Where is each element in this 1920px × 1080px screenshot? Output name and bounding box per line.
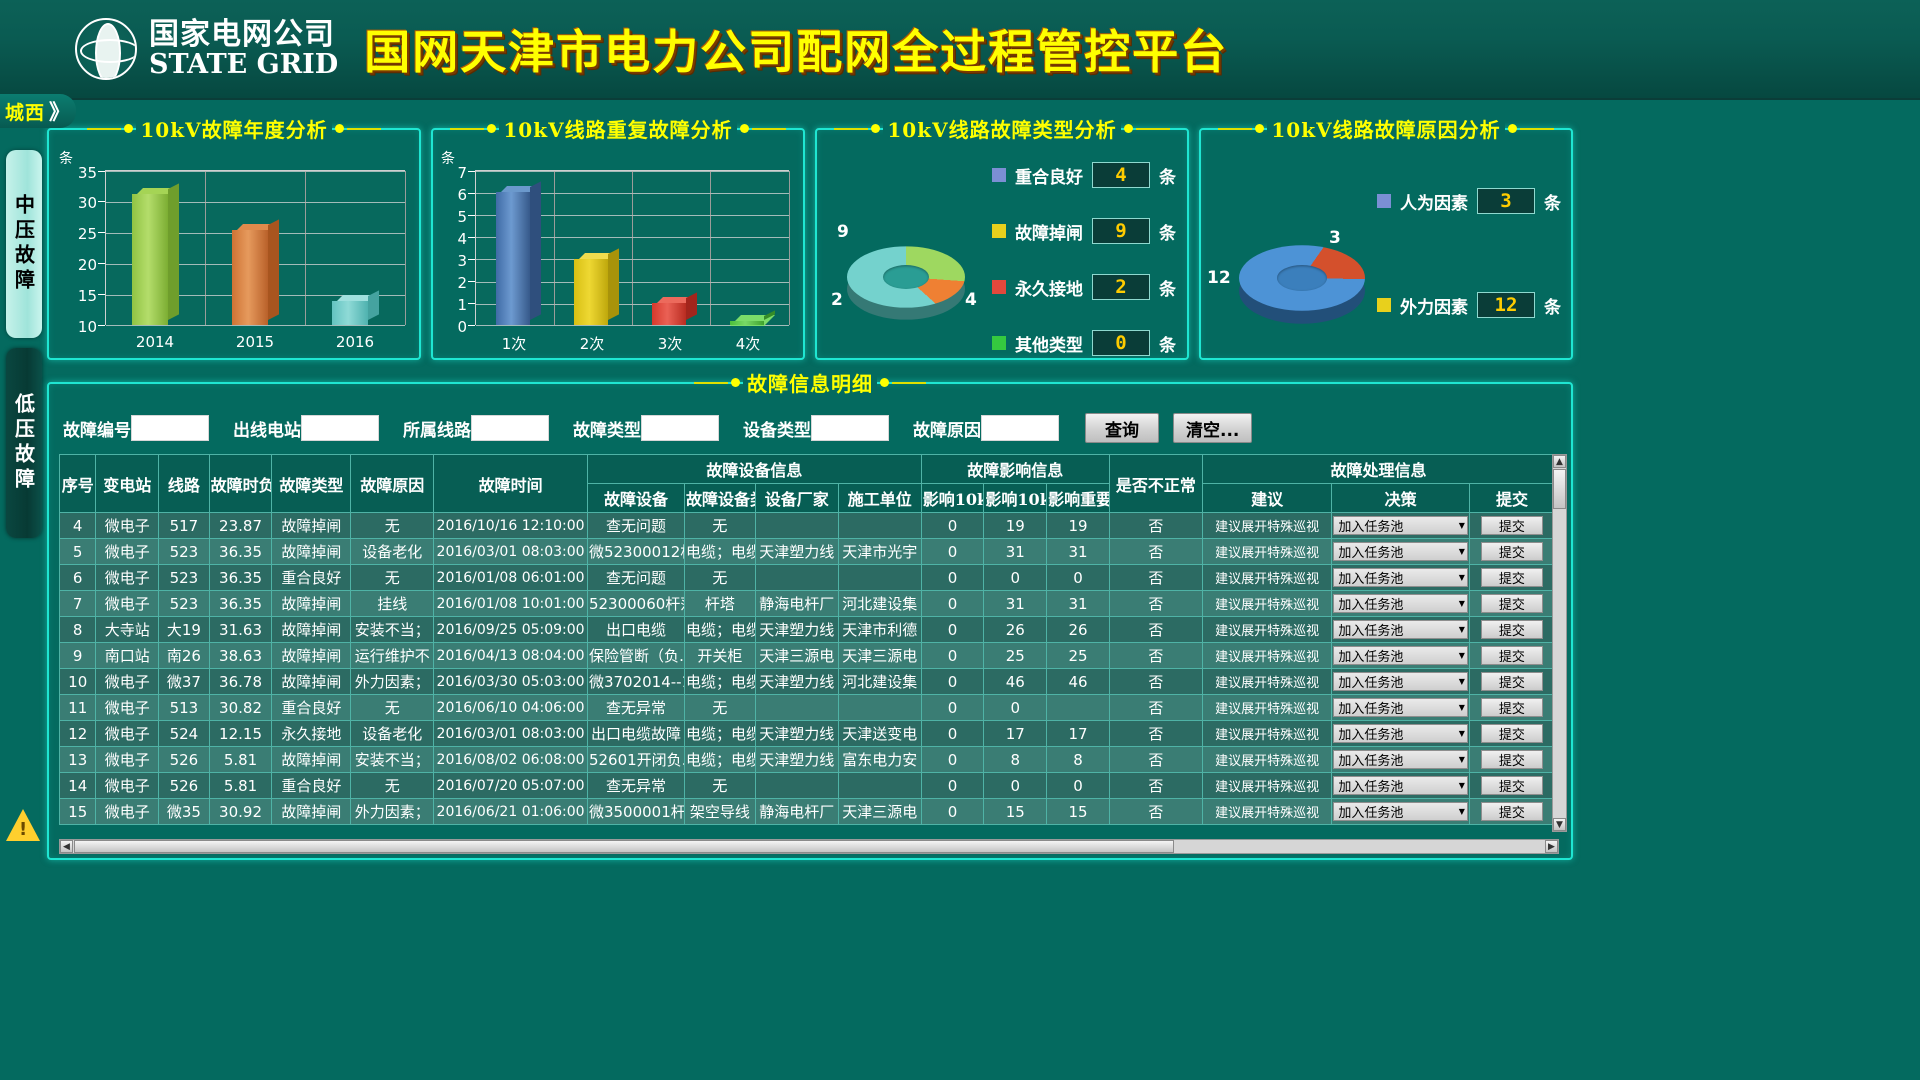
cell-fault-time: 2016/08/02 06:08:00 <box>434 747 588 773</box>
chart1-xlabel-2016: 2016 <box>305 333 405 351</box>
cell-fault-type: 重合良好 <box>272 773 351 799</box>
cell-private-transformer: 8 <box>984 747 1047 773</box>
sidebar-tab-low-voltage-fault[interactable]: 低压故障 <box>6 348 42 538</box>
cell-decision: 加入任务池▼ <box>1332 799 1470 825</box>
table-row[interactable]: 4微电子51723.87故障掉闸无2016/10/16 12:10:00查无问题… <box>60 513 1555 539</box>
cell-load-rate: 38.63 <box>209 643 272 669</box>
cell-decision: 加入任务池▼ <box>1332 721 1470 747</box>
cell-important-users: 0 <box>1047 565 1110 591</box>
chevron-down-icon[interactable]: ▼ <box>1459 573 1465 582</box>
cell-load-rate: 36.35 <box>209 539 272 565</box>
state-grid-globe-icon <box>75 18 137 80</box>
cell-builder: 天津三源电 <box>838 799 921 825</box>
cell-fault-cause: 无 <box>351 513 434 539</box>
decision-value: 加入任务池 <box>1338 724 1403 743</box>
chart3-legend-swatch-2 <box>992 280 1006 294</box>
submit-button[interactable]: 提交 <box>1481 620 1543 639</box>
table-row[interactable]: 5微电子52336.35故障掉闸设备老化2016/03/01 08:03:00微… <box>60 539 1555 565</box>
cell-station: 微电子 <box>96 695 159 721</box>
cell-fault-time: 2016/01/08 06:01:00 <box>434 565 588 591</box>
cell-advice: 建议展开特殊巡视 <box>1202 747 1331 773</box>
chevron-down-icon[interactable]: ▼ <box>1459 547 1465 556</box>
search-label-fault-cause: 故障原因 <box>913 416 981 441</box>
cell-fault-time: 2016/03/30 05:03:00 <box>434 669 588 695</box>
cell-fault-type: 重合良好 <box>272 565 351 591</box>
chart2-xlabel-2: 2次 <box>553 333 631 354</box>
cell-important-users: 15 <box>1047 799 1110 825</box>
cell-station: 微电子 <box>96 539 159 565</box>
cell-advice: 建议展开特殊巡视 <box>1202 643 1331 669</box>
chart4-legend-label-0: 人为因素 <box>1400 189 1468 214</box>
chart1-ytick-10: 10 <box>63 318 97 336</box>
decision-dropdown[interactable]: 加入任务池▼ <box>1333 542 1468 561</box>
col-builder: 施工单位 <box>838 484 921 513</box>
cell-builder <box>838 513 921 539</box>
chevron-down-icon[interactable]: ▼ <box>1459 755 1465 764</box>
state-grid-logo: 国家电网公司 STATE GRID <box>75 18 338 80</box>
cell-vendor <box>755 513 838 539</box>
chart2-ytick-6: 6 <box>433 186 467 204</box>
cell-station: 微电子 <box>96 513 159 539</box>
cell-seq: 13 <box>60 747 96 773</box>
cell-fault-type: 故障掉闸 <box>272 591 351 617</box>
advice-text: 建议展开特殊巡视 <box>1215 754 1319 769</box>
submit-button[interactable]: 提交 <box>1481 646 1543 665</box>
cell-builder <box>838 695 921 721</box>
cell-fault-type: 故障掉闸 <box>272 799 351 825</box>
cell-device-type: 杆塔 <box>685 591 756 617</box>
chart3-legend-label-3: 其他类型 <box>1015 331 1083 356</box>
advice-text: 建议展开特殊巡视 <box>1215 702 1319 717</box>
chart3-legend-swatch-3 <box>992 336 1006 350</box>
decision-dropdown[interactable]: 加入任务池▼ <box>1333 646 1468 665</box>
col-fault-cause: 故障原因 <box>351 455 434 513</box>
cell-builder: 天津市利德 <box>838 617 921 643</box>
cell-station: 微电子 <box>96 747 159 773</box>
table-row[interactable]: 9南口站南2638.63故障掉闸运行维护不2016/04/13 08:04:00… <box>60 643 1555 669</box>
cell-fault-time: 2016/10/16 12:10:00 <box>434 513 588 539</box>
decision-dropdown[interactable]: 加入任务池▼ <box>1333 672 1468 691</box>
cell-station: 微电子 <box>96 721 159 747</box>
submit-button[interactable]: 提交 <box>1481 672 1543 691</box>
cell-builder: 河北建设集 <box>838 669 921 695</box>
chart3-legend-value-1: 9 <box>1092 218 1150 244</box>
cell-vendor: 天津塑力线 <box>755 669 838 695</box>
decision-value: 加入任务池 <box>1338 594 1403 613</box>
chart2-xlabel-3: 3次 <box>631 333 709 354</box>
submit-button[interactable]: 提交 <box>1481 698 1543 717</box>
panel-fault-type-analysis: 10kV线路故障类型分析 9 2 4 重合良好 4 条 故障掉闸 9 条 永久接… <box>815 128 1189 360</box>
fault-detail-table-wrapper: 序号 变电站 线路 故障时负载率 故障类型 故障原因 故障时间 故障设备信息 故… <box>59 454 1559 832</box>
cell-abnormal: 否 <box>1109 591 1202 617</box>
cell-builder <box>838 773 921 799</box>
cell-builder: 天津市光宇 <box>838 539 921 565</box>
scroll-right-arrow[interactable]: ▶ <box>1545 840 1558 853</box>
submit-button[interactable]: 提交 <box>1481 568 1543 587</box>
decision-dropdown[interactable]: 加入任务池▼ <box>1333 620 1468 639</box>
cell-private-transformer: 31 <box>984 539 1047 565</box>
cell-abnormal: 否 <box>1109 643 1202 669</box>
cell-advice: 建议展开特殊巡视 <box>1202 513 1331 539</box>
table-row[interactable]: 6微电子52336.35重合良好无2016/01/08 06:01:00查无问题… <box>60 565 1555 591</box>
cell-public-transformer: 0 <box>921 513 984 539</box>
chart3-legend-item-2: 永久接地 2 条 <box>992 274 1176 300</box>
cell-fault-time: 2016/04/13 08:04:00 <box>434 643 588 669</box>
cell-abnormal: 否 <box>1109 565 1202 591</box>
decision-dropdown[interactable]: 加入任务池▼ <box>1333 750 1468 769</box>
chevron-down-icon[interactable]: ▼ <box>1459 625 1465 634</box>
cell-public-transformer: 0 <box>921 695 984 721</box>
cell-decision: 加入任务池▼ <box>1332 643 1470 669</box>
chart2-bar-1 <box>496 192 530 325</box>
col-seq: 序号 <box>60 455 96 513</box>
cell-abnormal: 否 <box>1109 695 1202 721</box>
chart2-bar-3 <box>652 303 686 325</box>
decision-dropdown[interactable]: 加入任务池▼ <box>1333 698 1468 717</box>
cell-line: 523 <box>159 591 210 617</box>
query-button[interactable]: 查询 <box>1085 413 1159 443</box>
table-body: 4微电子51723.87故障掉闸无2016/10/16 12:10:00查无问题… <box>60 513 1555 825</box>
fault-detail-table: 序号 变电站 线路 故障时负载率 故障类型 故障原因 故障时间 故障设备信息 故… <box>59 454 1555 825</box>
region-selector[interactable]: 城西 》 <box>0 94 76 128</box>
advice-text: 建议展开特殊巡视 <box>1215 546 1319 561</box>
chart4-legend-swatch-1 <box>1377 298 1391 312</box>
cell-submit: 提交 <box>1469 617 1554 643</box>
scroll-left-arrow[interactable]: ◀ <box>60 840 73 853</box>
clear-button[interactable]: 清空... <box>1173 413 1252 443</box>
cell-advice: 建议展开特殊巡视 <box>1202 539 1331 565</box>
cell-device-type: 电缆；电缆 <box>685 617 756 643</box>
cell-device: 查无问题 <box>587 565 684 591</box>
app-header: 国家电网公司 STATE GRID 国网天津市电力公司配网全过程管控平台 <box>0 0 1920 100</box>
chevron-right-icon: 》 <box>49 96 70 126</box>
chart3-legend-item-0: 重合良好 4 条 <box>992 162 1176 188</box>
cell-fault-cause: 无 <box>351 773 434 799</box>
chart2-xlabel-1: 1次 <box>475 333 553 354</box>
decision-dropdown[interactable]: 加入任务池▼ <box>1333 568 1468 587</box>
cell-builder: 富东电力安 <box>838 747 921 773</box>
cell-submit: 提交 <box>1469 799 1554 825</box>
cell-fault-time: 2016/06/21 01:06:00 <box>434 799 588 825</box>
cell-fault-cause: 外力因素； <box>351 669 434 695</box>
submit-button[interactable]: 提交 <box>1481 802 1543 821</box>
chart2-plot-area <box>475 170 789 325</box>
cell-advice: 建议展开特殊巡视 <box>1202 773 1331 799</box>
table-head: 序号 变电站 线路 故障时负载率 故障类型 故障原因 故障时间 故障设备信息 故… <box>60 455 1555 513</box>
chevron-down-icon[interactable]: ▼ <box>1459 807 1465 816</box>
chart3-legend-unit-1: 条 <box>1159 219 1176 244</box>
cell-fault-time: 2016/06/10 04:06:00 <box>434 695 588 721</box>
col-line: 线路 <box>159 455 210 513</box>
cell-seq: 14 <box>60 773 96 799</box>
cell-device-type: 电缆；电缆 <box>685 539 756 565</box>
decision-value: 加入任务池 <box>1338 776 1403 795</box>
decision-value: 加入任务池 <box>1338 672 1403 691</box>
cell-vendor: 静海电杆厂 <box>755 799 838 825</box>
cell-submit: 提交 <box>1469 591 1554 617</box>
chart4-legend-label-1: 外力因素 <box>1400 293 1468 318</box>
cell-private-transformer: 19 <box>984 513 1047 539</box>
cell-device: 52601开闭负… <box>587 747 684 773</box>
cell-line: 526 <box>159 773 210 799</box>
decision-value: 加入任务池 <box>1338 620 1403 639</box>
search-label-device-type: 设备类型 <box>743 416 811 441</box>
cell-line: 523 <box>159 565 210 591</box>
cell-line: 大19 <box>159 617 210 643</box>
chart4-legend-item-1: 外力因素 12 条 <box>1377 292 1561 318</box>
colgroup-device-info: 故障设备信息 <box>587 455 921 484</box>
chart2-ytick-7: 7 <box>433 164 467 182</box>
cell-seq: 4 <box>60 513 96 539</box>
col-vendor: 设备厂家 <box>755 484 838 513</box>
chevron-down-icon[interactable]: ▼ <box>1459 781 1465 790</box>
chevron-down-icon[interactable]: ▼ <box>1459 677 1465 686</box>
cell-seq: 7 <box>60 591 96 617</box>
chevron-down-icon[interactable]: ▼ <box>1459 599 1465 608</box>
cell-advice: 建议展开特殊巡视 <box>1202 669 1331 695</box>
chart2-ytick-4: 4 <box>433 230 467 248</box>
cell-private-transformer: 25 <box>984 643 1047 669</box>
cell-device-type: 架空导线 <box>685 799 756 825</box>
cell-device-type: 电缆；电缆 <box>685 747 756 773</box>
chart3-legend-item-3: 其他类型 0 条 <box>992 330 1176 356</box>
cell-advice: 建议展开特殊巡视 <box>1202 591 1331 617</box>
cell-builder: 天津三源电 <box>838 643 921 669</box>
cell-device: 查无问题 <box>587 513 684 539</box>
cell-seq: 9 <box>60 643 96 669</box>
cell-public-transformer: 0 <box>921 747 984 773</box>
search-input-device-type[interactable] <box>811 415 889 441</box>
cell-important-users: 19 <box>1047 513 1110 539</box>
cell-submit: 提交 <box>1469 513 1554 539</box>
cell-station: 微电子 <box>96 799 159 825</box>
chart4-legend-swatch-0 <box>1377 194 1391 208</box>
cell-line: 微35 <box>159 799 210 825</box>
cell-station: 微电子 <box>96 565 159 591</box>
chevron-down-icon[interactable]: ▼ <box>1459 521 1465 530</box>
table-row[interactable]: 14微电子5265.81重合良好无2016/07/20 05:07:00查无异常… <box>60 773 1555 799</box>
cell-vendor <box>755 773 838 799</box>
cell-fault-type: 永久接地 <box>272 721 351 747</box>
col-device: 故障设备 <box>587 484 684 513</box>
cell-load-rate: 12.15 <box>209 721 272 747</box>
chart2-bar-2 <box>574 259 608 325</box>
cell-fault-cause: 设备老化 <box>351 721 434 747</box>
table-row[interactable]: 13微电子5265.81故障掉闸安装不当；2016/08/02 06:08:00… <box>60 747 1555 773</box>
chevron-down-icon[interactable]: ▼ <box>1459 703 1465 712</box>
cell-submit: 提交 <box>1469 669 1554 695</box>
chart1-xlabel-2015: 2015 <box>205 333 305 351</box>
panel-fault-cause-analysis: 10kV线路故障原因分析 3 12 人为因素 3 条 外力因素 12 条 <box>1199 128 1573 360</box>
cell-seq: 10 <box>60 669 96 695</box>
cell-seq: 15 <box>60 799 96 825</box>
sidebar-tab-medium-voltage-fault[interactable]: 中压故障 <box>6 150 42 338</box>
cell-seq: 6 <box>60 565 96 591</box>
cell-load-rate: 36.35 <box>209 591 272 617</box>
search-input-station[interactable] <box>301 415 379 441</box>
decision-value: 加入任务池 <box>1338 750 1403 769</box>
table-row[interactable]: 8大寺站大1931.63故障掉闸安装不当；2016/09/25 05:09:00… <box>60 617 1555 643</box>
table-horizontal-scrollbar[interactable]: ◀ ▶ <box>59 839 1559 854</box>
cell-station: 微电子 <box>96 591 159 617</box>
cell-line: 517 <box>159 513 210 539</box>
cell-device-type: 无 <box>685 513 756 539</box>
scroll-down-arrow[interactable]: ▼ <box>1553 818 1566 831</box>
cell-fault-cause: 安装不当； <box>351 747 434 773</box>
search-form: 故障编号 出线电站 所属线路 故障类型 设备类型 故障原因 查询 清空... <box>59 410 1559 446</box>
cell-private-transformer: 46 <box>984 669 1047 695</box>
search-input-fault-id[interactable] <box>131 415 209 441</box>
panel5-title-bar: 故障信息明细 <box>49 368 1571 397</box>
search-input-line[interactable] <box>471 415 549 441</box>
cell-line: 523 <box>159 539 210 565</box>
decision-dropdown[interactable]: 加入任务池▼ <box>1333 776 1468 795</box>
cell-important-users: 17 <box>1047 721 1110 747</box>
cell-fault-type: 故障掉闸 <box>272 539 351 565</box>
decision-value: 加入任务池 <box>1338 698 1403 717</box>
cell-fault-type: 故障掉闸 <box>272 747 351 773</box>
chart4-legend-unit-1: 条 <box>1544 293 1561 318</box>
table-vertical-scrollbar[interactable]: ▲ ▼ <box>1552 454 1567 832</box>
col-advice: 建议 <box>1202 484 1331 513</box>
cell-important-users: 31 <box>1047 591 1110 617</box>
scroll-up-arrow[interactable]: ▲ <box>1553 455 1566 468</box>
sidebar: 城西 》 中压故障 低压故障 <box>0 100 46 880</box>
cell-builder <box>838 565 921 591</box>
cell-decision: 加入任务池▼ <box>1332 513 1470 539</box>
decision-value: 加入任务池 <box>1338 516 1403 535</box>
chart-annual-fault: 条 <box>49 130 419 358</box>
decision-dropdown[interactable]: 加入任务池▼ <box>1333 724 1468 743</box>
cell-vendor: 天津塑力线 <box>755 721 838 747</box>
vertical-scroll-thumb[interactable] <box>1553 469 1566 509</box>
decision-dropdown[interactable]: 加入任务池▼ <box>1333 802 1468 821</box>
advice-text: 建议展开特殊巡视 <box>1215 520 1319 535</box>
advice-text: 建议展开特殊巡视 <box>1215 572 1319 587</box>
horizontal-scroll-thumb[interactable] <box>74 840 1174 853</box>
cell-vendor: 天津三源电 <box>755 643 838 669</box>
submit-button[interactable]: 提交 <box>1481 594 1543 613</box>
cell-abnormal: 否 <box>1109 747 1202 773</box>
cell-important-users: 0 <box>1047 773 1110 799</box>
chart3-legend-value-2: 2 <box>1092 274 1150 300</box>
submit-button[interactable]: 提交 <box>1481 776 1543 795</box>
chart2-xlabel-4: 4次 <box>709 333 787 354</box>
cell-private-transformer: 15 <box>984 799 1047 825</box>
cell-fault-type: 故障掉闸 <box>272 617 351 643</box>
decision-dropdown[interactable]: 加入任务池▼ <box>1333 516 1468 535</box>
chart1-plot-area <box>105 170 405 325</box>
cell-device-type: 电缆；电缆 <box>685 721 756 747</box>
cell-fault-time: 2016/07/20 05:07:00 <box>434 773 588 799</box>
cell-public-transformer: 0 <box>921 591 984 617</box>
chart1-ytick-35: 35 <box>63 164 97 182</box>
cell-vendor <box>755 695 838 721</box>
cell-fault-type: 故障掉闸 <box>272 669 351 695</box>
advice-text: 建议展开特殊巡视 <box>1215 598 1319 613</box>
cell-public-transformer: 0 <box>921 643 984 669</box>
chart3-legend-swatch-1 <box>992 224 1006 238</box>
chart3-legend-item-1: 故障掉闸 9 条 <box>992 218 1176 244</box>
chart1-bar-2015 <box>232 230 268 325</box>
chevron-down-icon[interactable]: ▼ <box>1459 729 1465 738</box>
table-row[interactable]: 10微电子微3736.78故障掉闸外力因素；2016/03/30 05:03:0… <box>60 669 1555 695</box>
cell-device-type: 无 <box>685 773 756 799</box>
warning-icon[interactable] <box>6 805 40 845</box>
cell-fault-type: 故障掉闸 <box>272 643 351 669</box>
advice-text: 建议展开特殊巡视 <box>1215 624 1319 639</box>
cell-advice: 建议展开特殊巡视 <box>1202 721 1331 747</box>
chart1-bar-2014 <box>132 194 168 325</box>
cell-public-transformer: 0 <box>921 721 984 747</box>
cell-fault-cause: 外力因素； <box>351 799 434 825</box>
cell-important-users: 25 <box>1047 643 1110 669</box>
cell-device-type: 无 <box>685 695 756 721</box>
cell-load-rate: 30.92 <box>209 799 272 825</box>
advice-text: 建议展开特殊巡视 <box>1215 806 1319 821</box>
cell-public-transformer: 0 <box>921 669 984 695</box>
cell-load-rate: 31.63 <box>209 617 272 643</box>
chart4-slice-label-3: 3 <box>1329 228 1341 248</box>
chart3-legend-label-0: 重合良好 <box>1015 163 1083 188</box>
cell-important-users: 46 <box>1047 669 1110 695</box>
chart4-legend-item-0: 人为因素 3 条 <box>1377 188 1561 214</box>
table-row[interactable]: 12微电子52412.15永久接地设备老化2016/03/01 08:03:00… <box>60 721 1555 747</box>
col-station: 变电站 <box>96 455 159 513</box>
table-row[interactable]: 11微电子51330.82重合良好无2016/06/10 04:06:00查无异… <box>60 695 1555 721</box>
cell-important-users: 31 <box>1047 539 1110 565</box>
submit-button[interactable]: 提交 <box>1481 750 1543 769</box>
cell-station: 微电子 <box>96 773 159 799</box>
chevron-down-icon[interactable]: ▼ <box>1459 651 1465 660</box>
cell-abnormal: 否 <box>1109 721 1202 747</box>
submit-button[interactable]: 提交 <box>1481 724 1543 743</box>
submit-button[interactable]: 提交 <box>1481 516 1543 535</box>
cell-submit: 提交 <box>1469 773 1554 799</box>
chart-fault-type: 9 2 4 重合良好 4 条 故障掉闸 9 条 永久接地 2 条 其他类型 0 … <box>817 130 1187 358</box>
cell-submit: 提交 <box>1469 643 1554 669</box>
cell-line: 524 <box>159 721 210 747</box>
cell-advice: 建议展开特殊巡视 <box>1202 799 1331 825</box>
cell-fault-cause: 无 <box>351 565 434 591</box>
advice-text: 建议展开特殊巡视 <box>1215 780 1319 795</box>
search-input-fault-cause[interactable] <box>981 415 1059 441</box>
decision-value: 加入任务池 <box>1338 568 1403 587</box>
chart2-ytick-1: 1 <box>433 296 467 314</box>
col-fault-type: 故障类型 <box>272 455 351 513</box>
table-row[interactable]: 15微电子微3530.92故障掉闸外力因素；2016/06/21 01:06:0… <box>60 799 1555 825</box>
search-input-fault-type[interactable] <box>641 415 719 441</box>
submit-button[interactable]: 提交 <box>1481 542 1543 561</box>
table-row[interactable]: 7微电子52336.35故障掉闸挂线2016/01/08 10:01:00523… <box>60 591 1555 617</box>
cell-submit: 提交 <box>1469 539 1554 565</box>
panel-fault-detail: 故障信息明细 故障编号 出线电站 所属线路 故障类型 设备类型 故障原因 查询 … <box>47 382 1573 860</box>
cell-vendor: 天津塑力线 <box>755 747 838 773</box>
decision-dropdown[interactable]: 加入任务池▼ <box>1333 594 1468 613</box>
cell-important-users: 26 <box>1047 617 1110 643</box>
col-private-transformer: 影响10kV专变数 <box>984 484 1047 513</box>
chart1-ytick-30: 30 <box>63 194 97 212</box>
cell-public-transformer: 0 <box>921 565 984 591</box>
chart2-ytick-5: 5 <box>433 208 467 226</box>
colgroup-handle-info: 故障处理信息 <box>1202 455 1554 484</box>
cell-device: 查无异常 <box>587 695 684 721</box>
cell-abnormal: 否 <box>1109 539 1202 565</box>
cell-line: 526 <box>159 747 210 773</box>
chart3-legend-swatch-0 <box>992 168 1006 182</box>
col-public-transformer: 影响10kV公变数 <box>921 484 984 513</box>
col-important-users: 影响重要用户 <box>1047 484 1110 513</box>
